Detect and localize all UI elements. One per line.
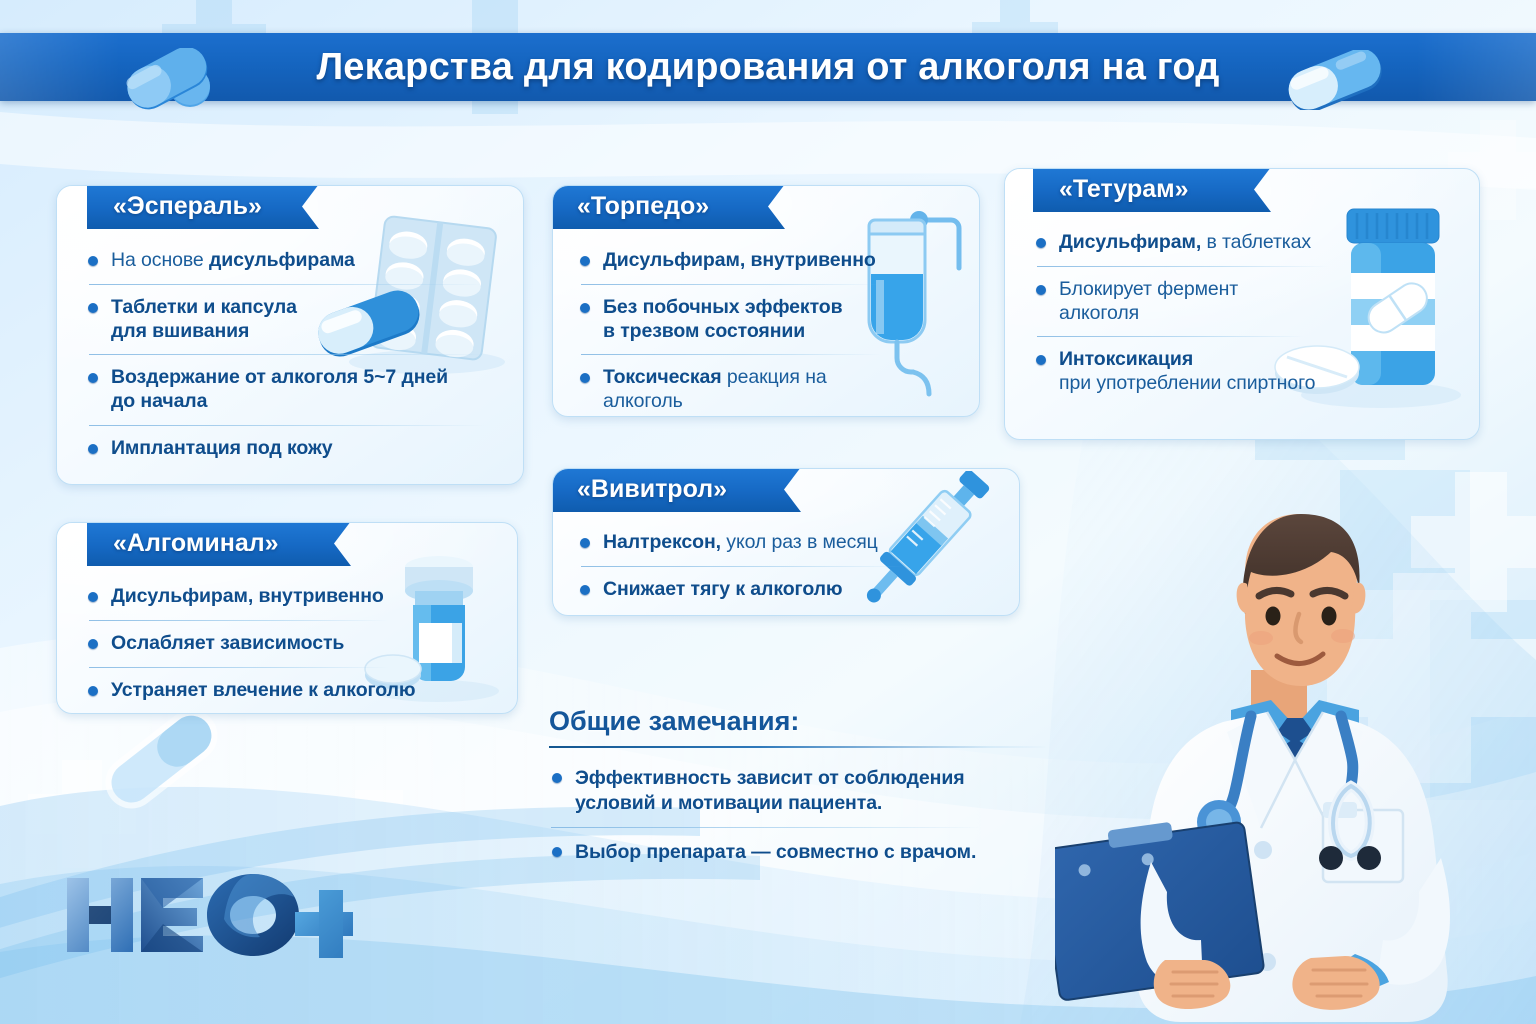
divider xyxy=(89,667,389,668)
card-title-ribbon-torpedo: «Торпедо» xyxy=(552,185,785,229)
list-item: Снижает тягу к алкоголю xyxy=(577,578,907,602)
bullet-list-esperal: На основе дисульфирама Таблетки и капсул… xyxy=(85,249,491,461)
divider xyxy=(89,284,485,285)
bullet-list-teturam: Дисульфирам, в таблетках Блокирует ферме… xyxy=(1033,231,1363,396)
card-esperal: «Эспераль» На основе дисульфирама Таблет… xyxy=(56,185,524,485)
card-title-teturam: «Тетурам» xyxy=(1059,175,1189,204)
list-item: Имплантация под кожу xyxy=(85,437,491,461)
divider xyxy=(549,746,1049,748)
list-item: Таблетки и капсуладля вшивания xyxy=(85,296,491,344)
card-vivitrol: «Вивитрол» Налтрексон, укол раз в месяц … xyxy=(552,468,1020,616)
list-item: Блокирует ферменталкоголя xyxy=(1033,278,1363,326)
divider xyxy=(551,827,981,828)
general-notes-section: Общие замечания: Эффективность зависит о… xyxy=(549,706,1069,865)
general-notes-title: Общие замечания: xyxy=(549,706,1069,737)
card-title-ribbon-algominal: «Алгоминал» xyxy=(87,522,351,566)
list-item: Выбор препарата — совместно с врачом. xyxy=(549,840,1069,865)
list-item: Устраняет влечение к алкоголю xyxy=(85,679,435,703)
bullet-list-torpedo: Дисульфирам, внутривенно Без побочных эф… xyxy=(577,249,907,414)
list-item: Эффективность зависит от соблюденияуслов… xyxy=(549,766,1069,815)
card-teturam: «Тетурам» Дисульфирам, в таблетках Блоки… xyxy=(1004,168,1480,440)
card-title-esperal: «Эспераль» xyxy=(113,192,262,221)
list-item: Налтрексон, укол раз в месяц xyxy=(577,531,907,555)
divider xyxy=(581,354,881,355)
card-title-vivitrol: «Вивитрол» xyxy=(577,475,727,504)
list-item: Токсическая реакция на алкоголь xyxy=(577,366,907,414)
list-item: Без побочных эффектовв трезвом состоянии xyxy=(577,296,907,344)
divider xyxy=(89,354,485,355)
list-item: Дисульфирам, в таблетках xyxy=(1033,231,1363,255)
list-item: Воздержание от алкоголя 5~7 днейдо начал… xyxy=(85,366,491,414)
card-title-torpedo: «Торпедо» xyxy=(577,192,709,221)
divider xyxy=(1037,266,1329,267)
divider xyxy=(581,284,881,285)
card-title-ribbon-teturam: «Тетурам» xyxy=(1033,168,1271,212)
bullet-list-vivitrol: Налтрексон, укол раз в месяц Снижает тяг… xyxy=(577,531,907,602)
divider xyxy=(89,425,485,426)
bullet-list-algominal: Дисульфирам, внутривенно Ослабляет завис… xyxy=(85,585,435,702)
card-title-ribbon-esperal: «Эспераль» xyxy=(87,185,319,229)
card-title-ribbon-vivitrol: «Вивитрол» xyxy=(552,468,801,512)
divider xyxy=(581,566,905,567)
divider xyxy=(1037,336,1305,337)
doctor-with-clipboard-illustration xyxy=(1055,510,1535,1024)
list-item: Дисульфирам, внутривенно xyxy=(577,249,907,273)
pill-capsule-icon xyxy=(1281,50,1389,110)
divider xyxy=(89,620,389,621)
card-torpedo: «Торпедо» Дисульфирам, внутривенно Без п… xyxy=(552,185,980,417)
infographic-poster: Лекарства для кодирования от алкоголя на… xyxy=(0,0,1536,1024)
list-item: Дисульфирам, внутривенно xyxy=(85,585,435,609)
page-title: Лекарства для кодирования от алкоголя на… xyxy=(316,46,1219,89)
card-algominal: «Алгоминал» Дисульфирам, внутривенно Осл… xyxy=(56,522,518,714)
card-title-algominal: «Алгоминал» xyxy=(113,529,279,558)
general-notes-list: Эффективность зависит от соблюденияуслов… xyxy=(549,766,1069,865)
list-item: Ослабляет зависимость xyxy=(85,632,435,656)
list-item: На основе дисульфирама xyxy=(85,249,491,273)
list-item: Интоксикацияпри употреблении спиртного xyxy=(1033,348,1363,396)
pill-capsule-icon xyxy=(118,48,222,110)
logo-neo-plus xyxy=(63,872,353,958)
